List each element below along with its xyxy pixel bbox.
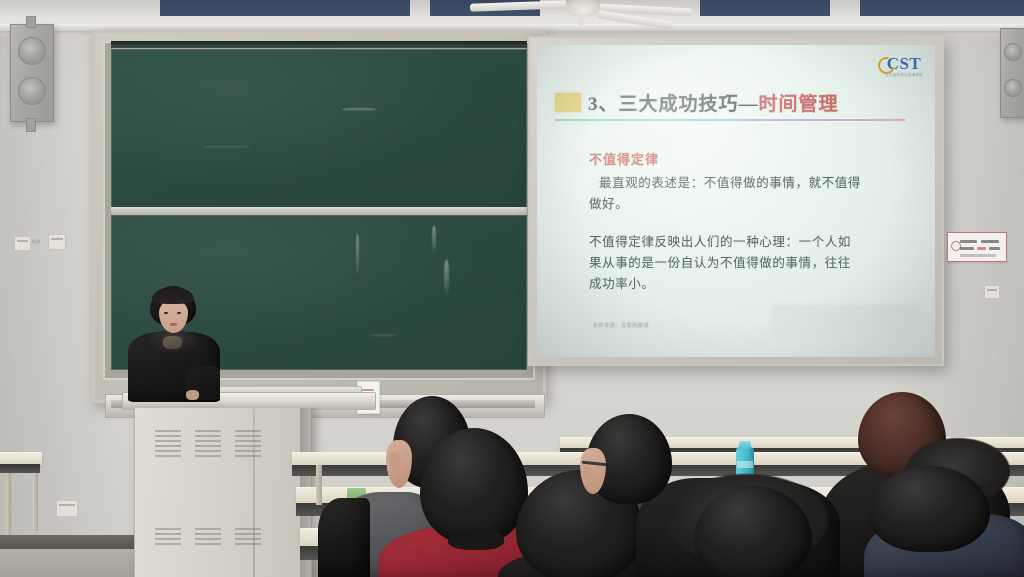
wall-speaker-right: [1000, 28, 1024, 118]
blackboard-top-rail: [111, 41, 527, 48]
teacher-eye-left: [164, 312, 168, 314]
slide-title-main: 三大成功技巧—: [619, 94, 759, 115]
slide-paragraph-1-line-2: 做好。: [589, 194, 917, 215]
classroom-scene: CST 江苏省科学与技术学院 3、三大成功技巧—时间管理 不值得定律 最直观的表…: [0, 0, 1024, 577]
slide-heading: 不值得定律: [589, 149, 917, 170]
title-bullet-square-icon: [555, 93, 581, 112]
slide-title-number: 3、: [588, 94, 619, 115]
cst-logo-mark: CST: [885, 55, 923, 72]
slide-paragraph-2-line-3: 成功率小。: [589, 274, 917, 295]
wall-outlet-lower-left[interactable]: [56, 500, 78, 517]
student-4-ear: [583, 466, 593, 481]
slide-title-accent: 时间管理: [759, 94, 839, 115]
slide-faint-image: [771, 305, 921, 341]
wall-switch-left[interactable]: [48, 234, 66, 250]
placard-seal-icon: [951, 241, 961, 251]
speaker-cone-icon: [1004, 79, 1022, 97]
lectern-cabinet[interactable]: [134, 408, 312, 577]
desk-leg: [316, 465, 322, 505]
ceiling-panel: [160, 0, 410, 16]
desk-underside: [0, 464, 40, 473]
teacher-mouth: [170, 323, 177, 326]
student-1-shoulder: [318, 498, 370, 577]
slide-title-row: 3、三大成功技巧—时间管理: [555, 89, 839, 116]
slide-title: 3、三大成功技巧—时间管理: [588, 89, 839, 116]
blackboard-divider: [111, 207, 527, 215]
cst-logo-subtitle: 江苏省科学与技术学院: [885, 74, 923, 78]
blackboard-panel-upper[interactable]: [111, 49, 527, 209]
student-1-ear: [389, 452, 400, 468]
teacher-eye-right: [177, 312, 181, 314]
wall-safety-placard: [947, 232, 1007, 262]
ceiling-fan-stem: [578, 14, 584, 26]
slide-paragraph-2-line-2: 果从事的是一份自认为不值得做的事情，往往: [589, 253, 917, 274]
speaker-cone-icon: [18, 37, 46, 65]
teacher-hair-fringe: [152, 287, 194, 304]
lectern-seam: [253, 408, 255, 577]
slide-title-underline: [555, 119, 905, 121]
slide-surface: CST 江苏省科学与技术学院 3、三大成功技巧—时间管理 不值得定律 最直观的表…: [537, 45, 935, 357]
wall-speaker-left: [10, 24, 54, 122]
wall-outlet-left[interactable]: [14, 236, 31, 251]
speaker-cone-icon: [18, 77, 46, 105]
slide-body: 不值得定律 最直观的表述是：不值得做的事情，就不值得 做好。 不值得定律反映出人…: [589, 149, 917, 295]
speaker-bracket-left: [26, 16, 36, 28]
teacher-hand: [186, 390, 199, 400]
teacher-scarf: [163, 336, 182, 349]
desk-leg: [33, 473, 38, 531]
slide-paragraph-2-line-1: 不值得定律反映出人们的一种心理：一个人如: [589, 232, 917, 253]
slide-footnote: 资料来源：互联网整理: [593, 322, 649, 329]
ceiling-panel: [700, 0, 830, 16]
speaker-cone-icon: [1004, 43, 1022, 61]
wall-outlet-right-lower[interactable]: [984, 285, 1000, 299]
speaker-bracket-left-bottom: [26, 118, 36, 132]
ceiling-panel: [860, 0, 1024, 16]
student-6-head: [868, 466, 990, 552]
student-2-neck: [448, 530, 504, 550]
projection-screen[interactable]: CST 江苏省科学与技术学院 3、三大成功技巧—时间管理 不值得定律 最直观的表…: [528, 36, 944, 366]
desk-leg: [6, 473, 11, 535]
slide-paragraph-1-line-1: 最直观的表述是：不值得做的事情，就不值得: [589, 173, 917, 194]
cst-logo: CST 江苏省科学与技术学院: [885, 55, 923, 78]
wall-outlet-label: 电源: [32, 239, 41, 245]
